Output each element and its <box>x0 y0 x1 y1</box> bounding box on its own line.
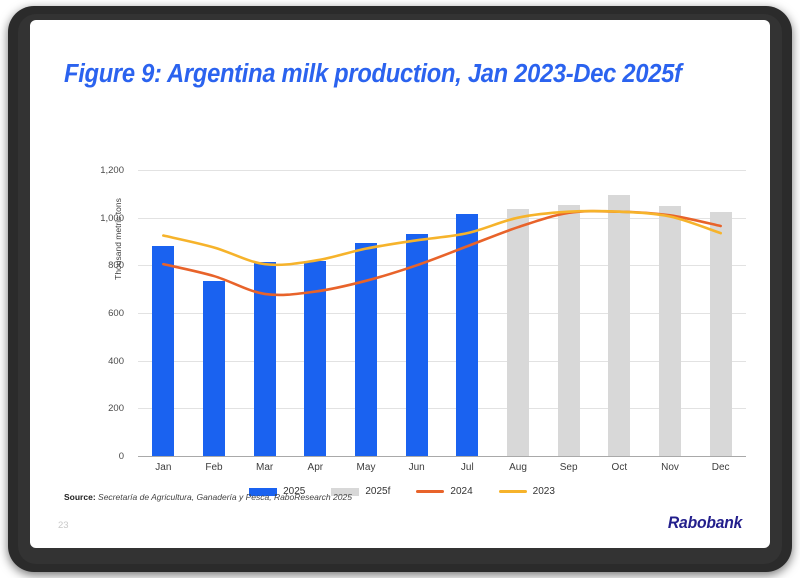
legend-label: 2023 <box>533 486 555 497</box>
x-axis-tick-label: Dec <box>691 462 751 473</box>
page-number: 23 <box>58 520 69 531</box>
gridline <box>138 456 746 457</box>
y-axis-tick-label: 200 <box>64 403 124 414</box>
y-axis-tick-label: 600 <box>64 308 124 319</box>
chart-figure: Thousand metric tons 02004006008001,0001… <box>52 138 752 478</box>
plot-area: 02004006008001,0001,200 JanFebMarAprMayJ… <box>138 170 746 456</box>
y-axis-tick-label: 1,000 <box>64 213 124 224</box>
legend-item-2023: 2023 <box>499 486 555 497</box>
source-note: Source: Secretaría de Agricultura, Ganad… <box>64 492 352 502</box>
line-series-2024 <box>163 211 720 295</box>
legend-item-2024: 2024 <box>416 486 472 497</box>
legend-swatch-icon <box>416 490 444 493</box>
y-axis-tick-label: 400 <box>64 356 124 367</box>
line-series-layer <box>138 170 746 456</box>
source-label: Source: <box>64 492 96 502</box>
y-axis-tick-label: 800 <box>64 260 124 271</box>
y-axis-tick-label: 1,200 <box>64 165 124 176</box>
legend-label: 2025f <box>365 486 390 497</box>
legend-label: 2024 <box>450 486 472 497</box>
slide-card: Figure 9: Argentina milk production, Jan… <box>30 20 770 548</box>
source-text: Secretaría de Agricultura, Ganadería y P… <box>98 492 352 502</box>
legend-swatch-icon <box>499 490 527 493</box>
brand-logo: Rabobank <box>668 514 742 533</box>
y-axis-tick-label: 0 <box>64 451 124 462</box>
page-title: Figure 9: Argentina milk production, Jan… <box>64 60 696 89</box>
device-frame: Figure 9: Argentina milk production, Jan… <box>8 6 792 572</box>
y-axis-title: Thousand metric tons <box>113 159 123 319</box>
